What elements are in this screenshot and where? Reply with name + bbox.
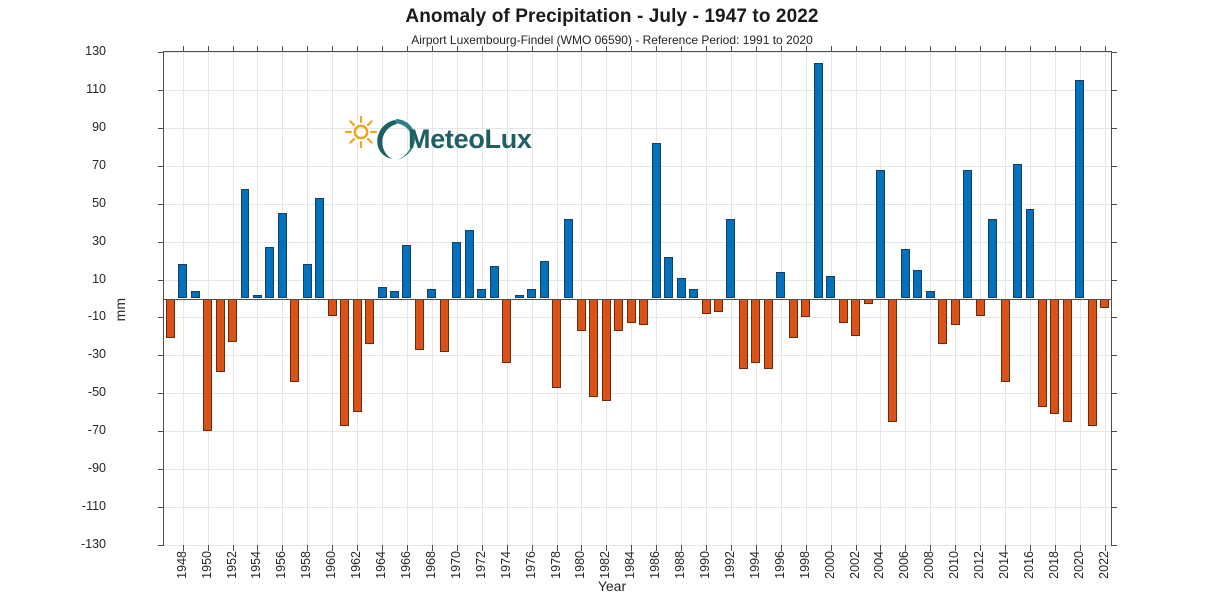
bar-1958[interactable] (303, 264, 312, 298)
bar-1965[interactable] (390, 291, 399, 299)
y-tick-mark-right (1111, 280, 1117, 281)
x-tick-label: 1982 (598, 551, 612, 579)
bar-1984[interactable] (627, 299, 636, 324)
x-tick-mark-top (631, 46, 632, 52)
y-tick-mark (158, 280, 164, 281)
bar-1976[interactable] (527, 289, 536, 298)
bar-2012[interactable] (976, 299, 985, 316)
bar-1966[interactable] (402, 245, 411, 298)
y-tick-label: 90 (92, 120, 106, 134)
y-tick-label: -70 (88, 423, 106, 437)
x-tick-mark-top (507, 46, 508, 52)
bar-1983[interactable] (614, 299, 623, 331)
y-tick-mark (158, 166, 164, 167)
logo-text: MeteoLux (408, 124, 532, 155)
x-axis-label: Year (0, 578, 1224, 594)
bar-1993[interactable] (739, 299, 748, 369)
y-tick-mark (158, 545, 164, 546)
x-tick-mark-top (806, 46, 807, 52)
bar-1951[interactable] (216, 299, 225, 373)
bar-1964[interactable] (378, 287, 387, 298)
x-tick-label: 2020 (1072, 551, 1086, 579)
x-tick-label: 1986 (648, 551, 662, 579)
bar-2013[interactable] (988, 219, 997, 299)
x-tick-label: 2006 (897, 551, 911, 579)
x-tick-mark-top (831, 46, 832, 52)
bar-1972[interactable] (477, 289, 486, 298)
bar-1973[interactable] (490, 266, 499, 298)
x-tick-label: 1996 (773, 551, 787, 579)
chart-page: Anomaly of Precipitation - July - 1947 t… (0, 0, 1224, 614)
x-tick-mark-top (1105, 46, 1106, 52)
x-tick-label: 2004 (872, 551, 886, 579)
y-tick-mark-right (1111, 128, 1117, 129)
x-tick-mark-top (382, 46, 383, 52)
bar-1982[interactable] (602, 299, 611, 401)
y-tick-mark-right (1111, 469, 1117, 470)
bar-1981[interactable] (589, 299, 598, 398)
x-tick-mark-top (208, 46, 209, 52)
bar-1948[interactable] (178, 264, 187, 298)
x-tick-mark-top (856, 46, 857, 52)
y-axis-label: mm (112, 298, 128, 321)
x-tick-mark-top (432, 46, 433, 52)
y-tick-label: 10 (92, 272, 106, 286)
y-tick-mark (158, 355, 164, 356)
x-tick-mark-top (880, 46, 881, 52)
bar-1992[interactable] (726, 219, 735, 299)
y-tick-mark-right (1111, 204, 1117, 205)
y-tick-mark-right (1111, 166, 1117, 167)
bar-2020[interactable] (1075, 80, 1084, 298)
x-tick-label: 2014 (997, 551, 1011, 579)
bar-1996[interactable] (776, 272, 785, 299)
sun-icon (346, 117, 376, 147)
x-tick-label: 1972 (474, 551, 488, 579)
x-tick-label: 2002 (848, 551, 862, 579)
bar-1999[interactable] (814, 63, 823, 298)
bar-1980[interactable] (577, 299, 586, 331)
bar-1953[interactable] (241, 189, 250, 299)
x-tick-label: 2008 (922, 551, 936, 579)
y-tick-mark (158, 90, 164, 91)
bar-1959[interactable] (315, 198, 324, 298)
bar-1969[interactable] (440, 299, 449, 352)
bar-2006[interactable] (901, 249, 910, 298)
x-tick-label: 1962 (349, 551, 363, 579)
x-tick-label: 1964 (374, 551, 388, 579)
x-tick-label: 1998 (798, 551, 812, 579)
bar-1974[interactable] (502, 299, 511, 363)
y-tick-label: -10 (88, 309, 106, 323)
bar-1989[interactable] (689, 289, 698, 298)
bar-1955[interactable] (265, 247, 274, 298)
x-tick-label: 1958 (299, 551, 313, 579)
bar-1947[interactable] (166, 299, 175, 339)
x-tick-mark-top (457, 46, 458, 52)
y-tick-mark-right (1111, 507, 1117, 508)
x-tick-mark-top (656, 46, 657, 52)
bar-2001[interactable] (839, 299, 848, 324)
y-tick-mark (158, 507, 164, 508)
x-tick-label: 1948 (175, 551, 189, 579)
y-tick-mark (158, 393, 164, 394)
bar-2004[interactable] (876, 170, 885, 299)
bar-2002[interactable] (851, 299, 860, 337)
chart-subtitle: Airport Luxembourg-Findel (WMO 06590) - … (0, 33, 1224, 47)
bar-2022[interactable] (1100, 299, 1109, 308)
x-tick-label: 1974 (499, 551, 513, 579)
x-tick-mark-top (357, 46, 358, 52)
bar-1952[interactable] (228, 299, 237, 343)
y-tick-label: -30 (88, 347, 106, 361)
y-tick-label: -50 (88, 385, 106, 399)
y-tick-label: -90 (88, 461, 106, 475)
bar-1990[interactable] (702, 299, 711, 314)
x-tick-mark-top (307, 46, 308, 52)
x-tick-label: 1994 (748, 551, 762, 579)
x-tick-label: 1988 (673, 551, 687, 579)
bar-1997[interactable] (789, 299, 798, 339)
x-tick-label: 2012 (972, 551, 986, 579)
x-tick-mark-top (1080, 46, 1081, 52)
y-tick-label: 130 (85, 44, 106, 58)
y-tick-mark (158, 431, 164, 432)
x-tick-label: 1966 (399, 551, 413, 579)
bar-1987[interactable] (664, 257, 673, 299)
bar-2005[interactable] (888, 299, 897, 422)
y-tick-mark-right (1111, 90, 1117, 91)
x-tick-label: 1980 (573, 551, 587, 579)
x-tick-label: 1954 (249, 551, 263, 579)
x-tick-label: 1956 (274, 551, 288, 579)
x-tick-label: 1952 (225, 551, 239, 579)
bar-1961[interactable] (340, 299, 349, 426)
y-tick-mark (158, 242, 164, 243)
x-tick-label: 2022 (1097, 551, 1111, 579)
zero-baseline (164, 299, 1111, 300)
bar-2007[interactable] (913, 270, 922, 298)
x-tick-mark-top (532, 46, 533, 52)
bar-1979[interactable] (564, 219, 573, 299)
y-tick-mark-right (1111, 355, 1117, 356)
x-tick-mark-top (233, 46, 234, 52)
x-tick-mark-top (606, 46, 607, 52)
y-tick-mark (158, 204, 164, 205)
x-tick-label: 1984 (623, 551, 637, 579)
x-tick-label: 1978 (549, 551, 563, 579)
x-tick-mark-top (1030, 46, 1031, 52)
x-tick-mark-top (756, 46, 757, 52)
y-tick-mark-right (1111, 545, 1117, 546)
x-tick-mark-top (905, 46, 906, 52)
bar-1963[interactable] (365, 299, 374, 345)
plot-area: MeteoLux (163, 51, 1112, 546)
x-tick-label: 2016 (1022, 551, 1036, 579)
bar-2014[interactable] (1001, 299, 1010, 382)
y-tick-label: -130 (81, 537, 106, 551)
x-tick-mark-top (581, 46, 582, 52)
y-tick-mark-right (1111, 317, 1117, 318)
x-tick-label: 1968 (424, 551, 438, 579)
y-tick-label: 30 (92, 234, 106, 248)
x-tick-mark-top (930, 46, 931, 52)
y-tick-label: 110 (86, 82, 106, 96)
y-tick-label: -110 (82, 499, 106, 513)
y-tick-label: 50 (92, 196, 106, 210)
x-tick-mark-top (1005, 46, 1006, 52)
x-tick-mark-top (257, 46, 258, 52)
x-tick-mark-top (980, 46, 981, 52)
bar-1991[interactable] (714, 299, 723, 312)
x-tick-label: 1976 (524, 551, 538, 579)
x-tick-mark-top (557, 46, 558, 52)
x-tick-mark-top (955, 46, 956, 52)
bar-2021[interactable] (1088, 299, 1097, 426)
y-tick-mark-right (1111, 52, 1117, 53)
meteolux-logo: MeteoLux (340, 110, 550, 168)
x-tick-label: 1970 (449, 551, 463, 579)
bar-2010[interactable] (951, 299, 960, 326)
x-tick-mark-top (332, 46, 333, 52)
x-tick-label: 1990 (698, 551, 712, 579)
bar-2000[interactable] (826, 276, 835, 299)
x-tick-mark-top (482, 46, 483, 52)
x-tick-mark-top (282, 46, 283, 52)
x-tick-label: 1992 (723, 551, 737, 579)
y-tick-mark-right (1111, 431, 1117, 432)
y-tick-mark (158, 128, 164, 129)
x-tick-mark-top (731, 46, 732, 52)
bar-1962[interactable] (353, 299, 362, 413)
y-tick-mark (158, 52, 164, 53)
bar-1957[interactable] (290, 299, 299, 382)
bar-1960[interactable] (328, 299, 337, 316)
bar-1967[interactable] (415, 299, 424, 350)
bar-1956[interactable] (278, 213, 287, 298)
x-tick-label: 1950 (200, 551, 214, 579)
x-tick-label: 2018 (1047, 551, 1061, 579)
bar-1971[interactable] (465, 230, 474, 298)
bar-1994[interactable] (751, 299, 760, 363)
x-tick-mark-top (183, 46, 184, 52)
bar-1968[interactable] (427, 289, 436, 298)
x-tick-mark-top (1055, 46, 1056, 52)
y-tick-mark (158, 317, 164, 318)
y-tick-mark (158, 469, 164, 470)
bar-2011[interactable] (963, 170, 972, 299)
bar-1970[interactable] (452, 242, 461, 299)
bar-1949[interactable] (191, 291, 200, 299)
x-tick-mark-top (407, 46, 408, 52)
bar-1988[interactable] (677, 278, 686, 299)
bar-2008[interactable] (926, 291, 935, 299)
x-tick-label: 2010 (947, 551, 961, 579)
y-tick-label: 70 (92, 158, 106, 172)
bar-2019[interactable] (1063, 299, 1072, 422)
bar-1995[interactable] (764, 299, 773, 369)
bar-2016[interactable] (1026, 209, 1035, 298)
bar-1977[interactable] (540, 261, 549, 299)
bar-2018[interactable] (1050, 299, 1059, 415)
bar-1986[interactable] (652, 143, 661, 298)
chart-title: Anomaly of Precipitation - July - 1947 t… (0, 6, 1224, 28)
bar-1950[interactable] (203, 299, 212, 432)
bar-1998[interactable] (801, 299, 810, 318)
bar-2009[interactable] (938, 299, 947, 345)
x-tick-mark-top (706, 46, 707, 52)
x-tick-label: 1960 (324, 551, 338, 579)
bar-1985[interactable] (639, 299, 648, 326)
y-tick-mark-right (1111, 393, 1117, 394)
gridline-h (164, 545, 1111, 546)
bar-2017[interactable] (1038, 299, 1047, 407)
y-tick-mark-right (1111, 242, 1117, 243)
x-tick-mark-top (781, 46, 782, 52)
x-tick-label: 2000 (823, 551, 837, 579)
bar-2015[interactable] (1013, 164, 1022, 299)
x-tick-mark-top (681, 46, 682, 52)
bar-1978[interactable] (552, 299, 561, 388)
